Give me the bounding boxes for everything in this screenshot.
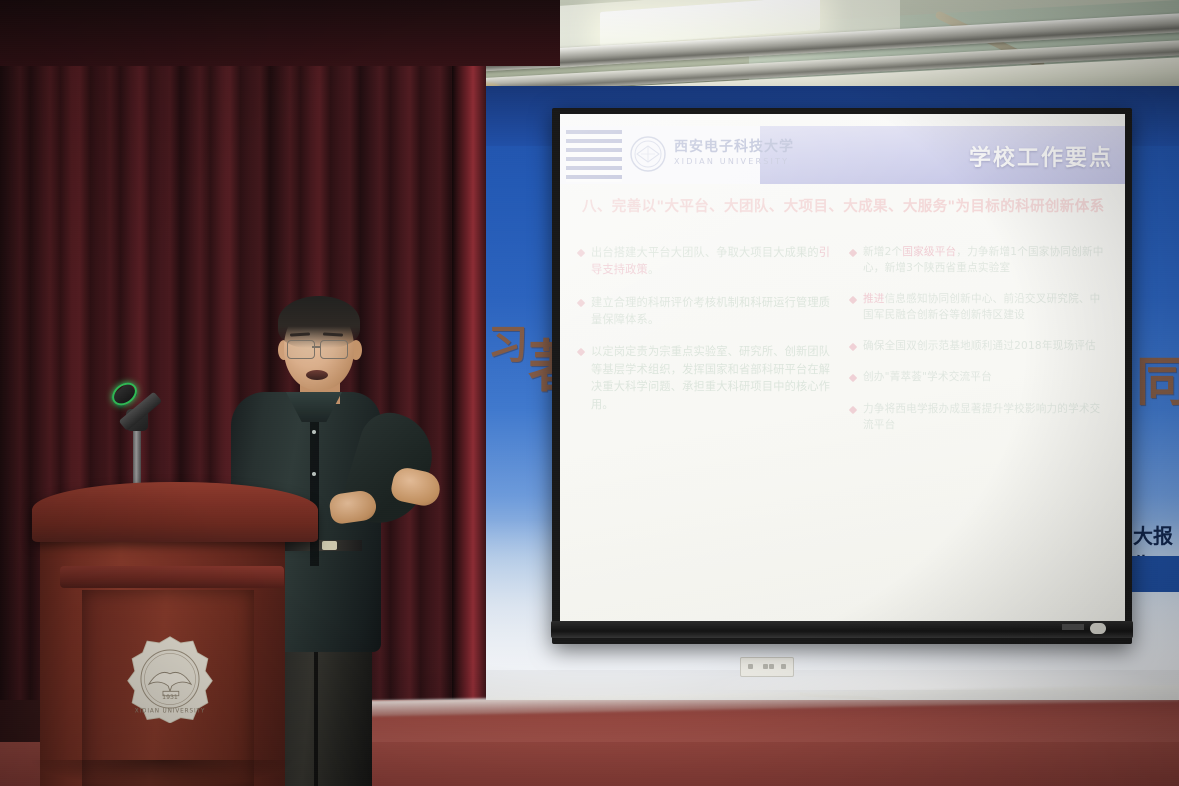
bullet-item: 出台搭建大平台大团队、争取大项目大成果的引导支持政策。 — [578, 244, 836, 279]
bullet-item: 以定岗定责为宗重点实验室、研究所、创新团队等基层学术组织，发挥国家和省部科研平台… — [578, 343, 836, 412]
bullet-item: 创办"菁萃荟"学术交流平台 — [850, 369, 1108, 385]
bullet-marker-icon — [849, 405, 857, 413]
bullet-marker-icon — [577, 348, 585, 356]
eagle-book-seal-icon: 1931 XIDIAN UNIVERSITY — [126, 635, 214, 723]
slide-right-column: 新增2个国家级平台，力争新增1个国家协同创新中心，新增3个陕西省重点实验室 推进… — [850, 244, 1108, 448]
bullet-marker-icon — [577, 298, 585, 306]
bullet-text: 推进信息感知协同创新中心、前沿交叉研究院、中国军民融合创新谷等创新特区建设 — [863, 291, 1108, 323]
speaker-mouth — [306, 370, 328, 380]
banner-char-right: 同 — [1136, 340, 1179, 415]
slide-org-name-en: XIDIAN UNIVERSITY — [674, 157, 789, 166]
bullet-text: 确保全国双创示范基地顺利通过2018年现场评估 — [863, 338, 1096, 354]
bullet-marker-icon — [577, 249, 585, 257]
bullet-item: 力争将西电学报办成显著提升学校影响力的学术交流平台 — [850, 401, 1108, 433]
projection-screen-surface: 西安电子科技大学 XIDIAN UNIVERSITY 学校工作要点 八、完善以"… — [560, 114, 1125, 621]
presentation-slide: 西安电子科技大学 XIDIAN UNIVERSITY 学校工作要点 八、完善以"… — [560, 114, 1125, 621]
screen-pull-knob[interactable] — [1090, 623, 1106, 634]
slide-title: 八、完善以"大平台、大团队、大项目、大成果、大服务"为目标的科研创新体系 — [582, 198, 1112, 217]
banner-char-left: 习 — [488, 312, 528, 370]
curtain-edge — [452, 0, 486, 742]
podium-shadow — [32, 760, 292, 786]
bullet-text: 创办"菁萃荟"学术交流平台 — [863, 369, 992, 385]
bullet-item: 建立合理的科研评价考核机制和科研运行管理质量保障体系。 — [578, 294, 836, 329]
bullet-marker-icon — [849, 296, 857, 304]
slide-hatch-decoration — [566, 130, 622, 182]
bullet-marker-icon — [849, 374, 857, 382]
bullet-text: 建立合理的科研评价考核机制和科研运行管理质量保障体系。 — [591, 294, 836, 329]
speaker-shirt-button — [312, 430, 316, 434]
slide-band-title: 学校工作要点 — [969, 140, 1113, 172]
curtain-valance — [0, 0, 560, 66]
bullet-marker-icon — [849, 249, 857, 257]
speaker-leg-split — [314, 640, 318, 786]
eyeglasses-icon — [287, 340, 315, 359]
emblem-name-en: XIDIAN UNIVERSITY — [135, 708, 206, 714]
slide-org-name-cn: 西安电子科技大学 — [674, 136, 794, 156]
bullet-text: 出台搭建大平台大团队、争取大项目大成果的引导支持政策。 — [591, 244, 836, 279]
power-outlet-icon[interactable] — [740, 657, 794, 677]
speaker-belt-buckle — [322, 541, 337, 550]
speaker-shirt-button — [312, 472, 316, 476]
podium-lip — [60, 566, 284, 588]
podium-top-surface — [32, 482, 318, 542]
slide-left-column: 出台搭建大平台大团队、争取大项目大成果的引导支持政策。 建立合理的科研评价考核机… — [578, 244, 836, 448]
bullet-text: 力争将西电学报办成显著提升学校影响力的学术交流平台 — [863, 401, 1108, 433]
bullet-item: 新增2个国家级平台，力争新增1个国家协同创新中心，新增3个陕西省重点实验室 — [850, 244, 1108, 276]
photograph-scene: 习 著 同 大报告 西安电子科技大学 XIDIAN UNIVERSITY 学校工… — [0, 0, 1179, 786]
bullet-text: 以定岗定责为宗重点实验室、研究所、创新团队等基层学术组织，发挥国家和省部科研平台… — [591, 343, 836, 412]
bullet-marker-icon — [849, 343, 857, 351]
emblem-year: 1931 — [162, 694, 178, 701]
screen-bar-strip — [1062, 624, 1084, 630]
xidian-seal-icon — [628, 134, 668, 174]
eyeglasses-bridge — [312, 346, 321, 348]
screen-bottom-bar — [551, 621, 1133, 638]
bullet-item: 推进信息感知协同创新中心、前沿交叉研究院、中国军民融合创新谷等创新特区建设 — [850, 291, 1108, 323]
bullet-item: 确保全国双创示范基地顺利通过2018年现场评估 — [850, 338, 1108, 354]
slide-columns: 出台搭建大平台大团队、争取大项目大成果的引导支持政策。 建立合理的科研评价考核机… — [578, 244, 1112, 448]
eyeglasses-icon — [320, 340, 348, 359]
bullet-text: 新增2个国家级平台，力争新增1个国家协同创新中心，新增3个陕西省重点实验室 — [863, 244, 1108, 276]
